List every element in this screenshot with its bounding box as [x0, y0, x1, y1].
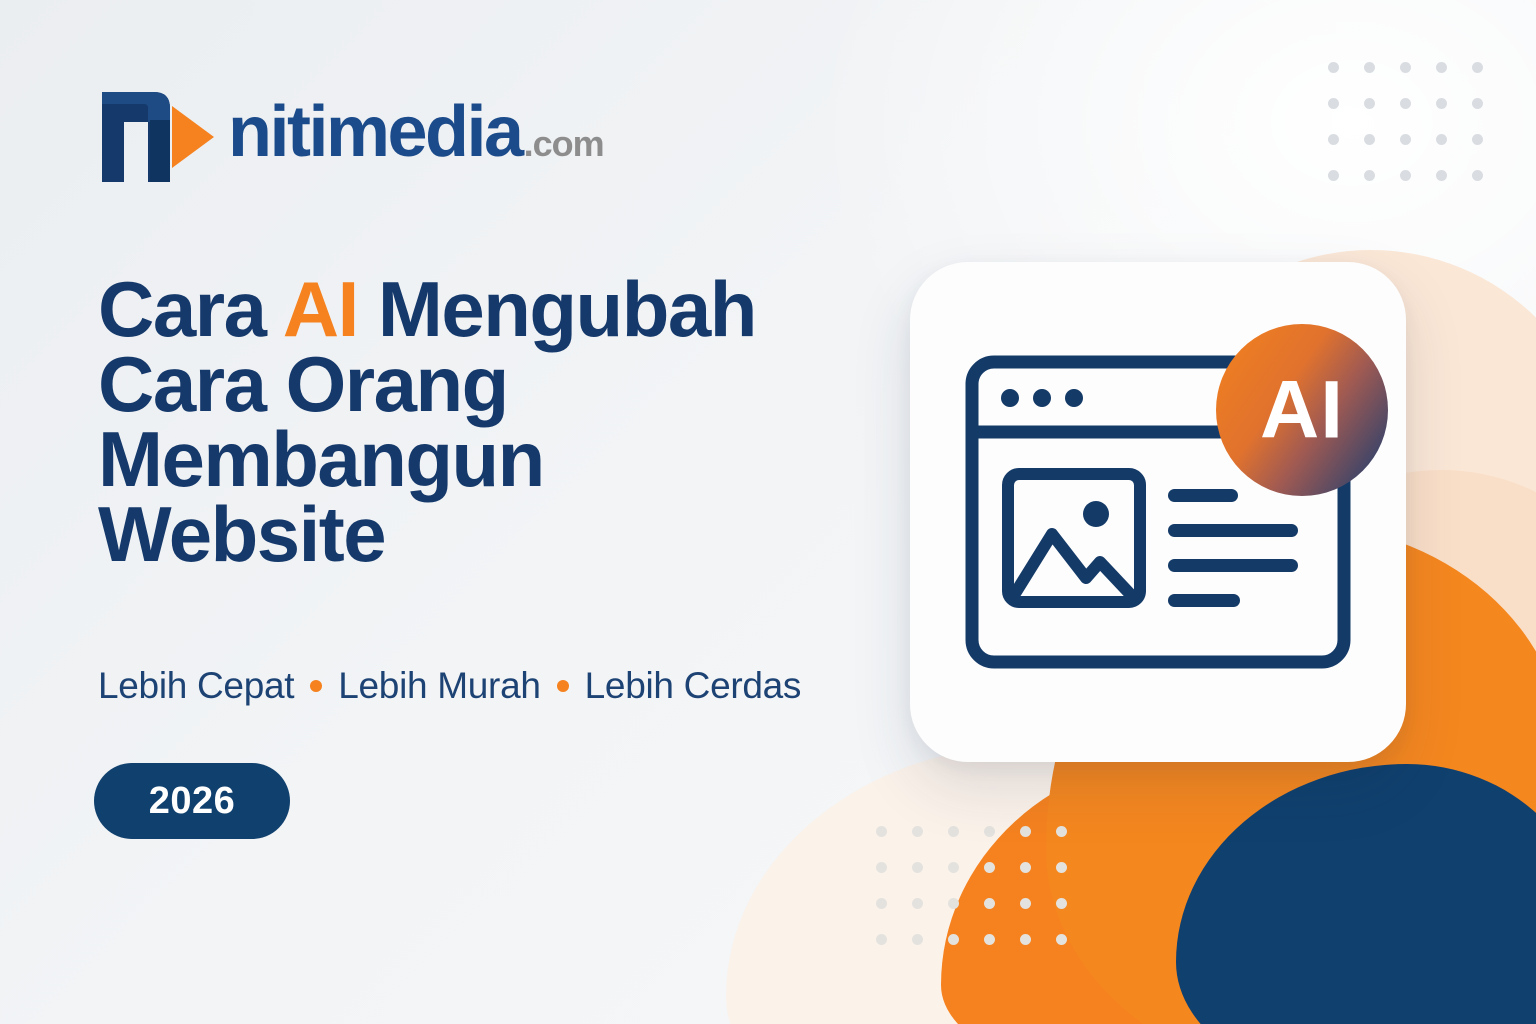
poster-canvas: nitimedia .com Cara AI Mengubah Cara Ora…	[0, 0, 1536, 1024]
headline-line-3: Membangun	[98, 422, 928, 497]
browser-dot-1	[1001, 389, 1019, 407]
browser-window-icon: AI	[910, 262, 1406, 762]
year-badge-label: 2026	[149, 780, 236, 823]
brand-logo[interactable]: nitimedia .com	[94, 78, 604, 186]
website-builder-card: AI	[910, 262, 1406, 762]
dot-grid-pattern-bottom	[876, 826, 1092, 970]
benefit-item-2: Lebih Murah	[338, 665, 540, 707]
dot-grid-pattern-top	[1328, 62, 1508, 206]
brand-wordmark: nitimedia .com	[228, 96, 604, 168]
benefit-item-3: Lebih Cerdas	[585, 665, 802, 707]
image-sun-icon	[1083, 501, 1109, 527]
content-line-2	[1168, 524, 1298, 537]
page-title: Cara AI Mengubah Cara Orang Membangun We…	[98, 272, 928, 572]
bullet-dot-icon	[310, 680, 322, 692]
benefit-item-1: Lebih Cepat	[98, 665, 294, 707]
bullet-dot-icon-2	[557, 680, 569, 692]
content-line-1	[1168, 489, 1238, 502]
content-line-4	[1168, 594, 1240, 607]
browser-dot-3	[1065, 389, 1083, 407]
year-badge: 2026	[94, 763, 290, 839]
subtitle-benefits: Lebih Cepat Lebih Murah Lebih Cerdas	[98, 665, 801, 707]
navy-blob-shape	[1176, 764, 1536, 1024]
headline-line-1: Cara AI Mengubah	[98, 272, 928, 347]
browser-dot-2	[1033, 389, 1051, 407]
content-line-3	[1168, 559, 1298, 572]
brand-tld: .com	[524, 126, 604, 162]
brand-name: nitimedia	[228, 96, 522, 168]
headline-line-4: Website	[98, 497, 928, 572]
image-mountain-icon	[1016, 534, 1132, 596]
headline-line-2: Cara Orang	[98, 347, 928, 422]
ai-badge-label: AI	[1260, 365, 1344, 456]
nitimedia-n-play-logo-icon	[94, 78, 214, 186]
